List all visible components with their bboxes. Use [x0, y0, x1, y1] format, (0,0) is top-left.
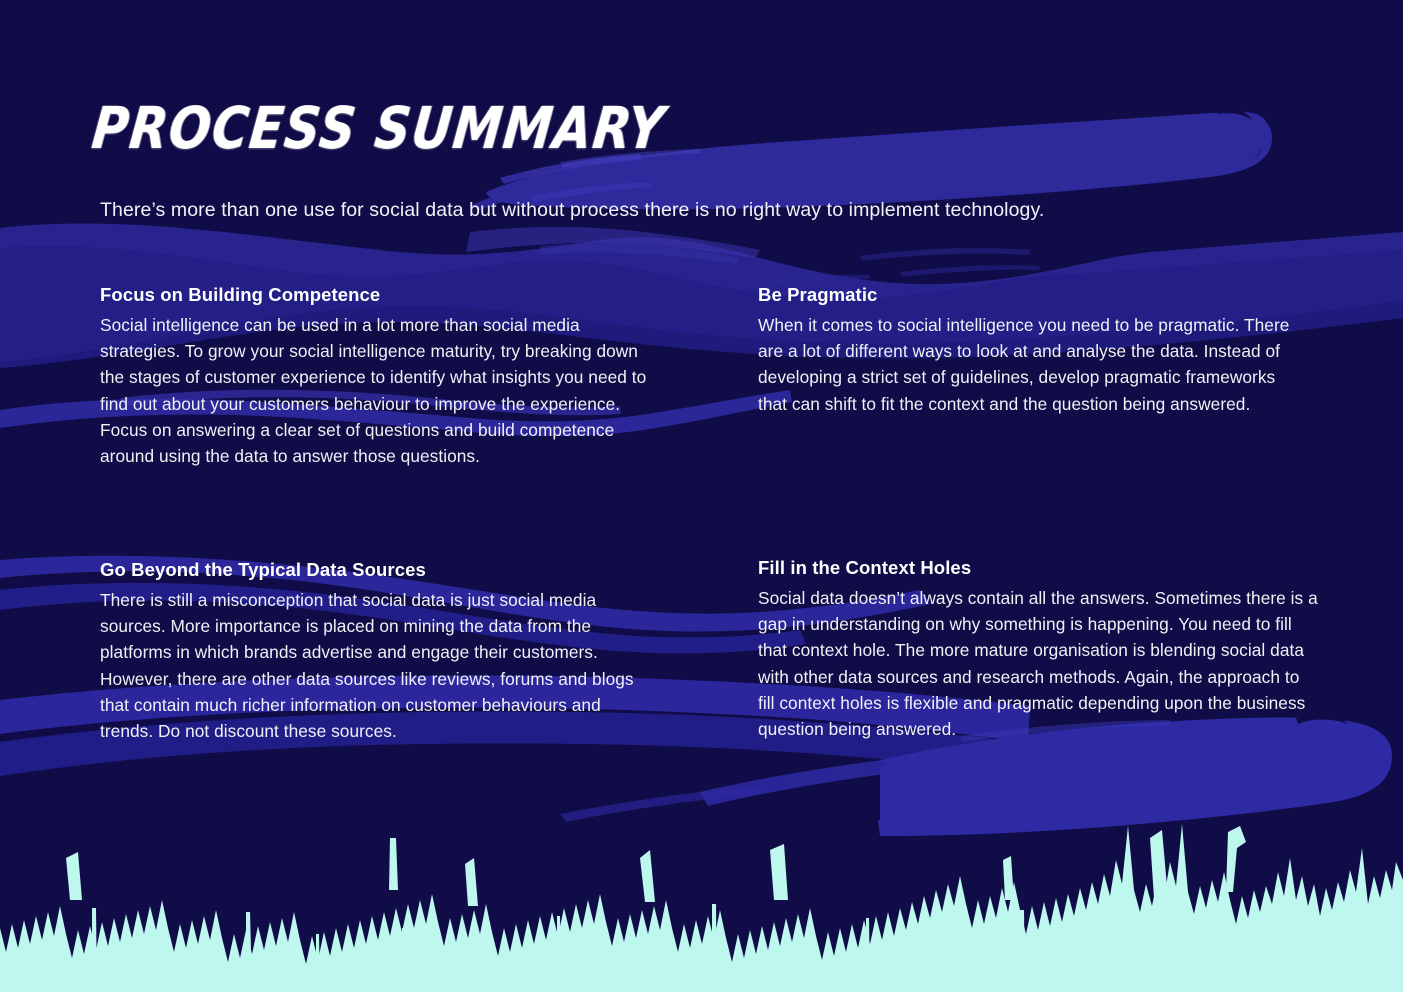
- card-body: Social intelligence can be used in a lot…: [100, 312, 658, 469]
- content-card-focus-on-building-competence: Focus on Building Competence Social inte…: [100, 284, 748, 557]
- card-body: Social data doesn’t always contain all t…: [758, 585, 1318, 742]
- content-card-be-pragmatic: Be Pragmatic When it comes to social int…: [748, 284, 1310, 557]
- card-title: Focus on Building Competence: [100, 284, 748, 306]
- card-body: There is still a misconception that soci…: [100, 587, 656, 744]
- slide-content: PROCESS SUMMARY There’s more than one us…: [0, 0, 1403, 992]
- card-title: Fill in the Context Holes: [758, 557, 1310, 579]
- card-title: Be Pragmatic: [758, 284, 1310, 306]
- slide-subtitle: There’s more than one use for social dat…: [100, 196, 1044, 224]
- slide-canvas: PROCESS SUMMARY There’s more than one us…: [0, 0, 1403, 992]
- content-card-grid: Focus on Building Competence Social inte…: [100, 284, 1310, 744]
- content-card-go-beyond-the-typical-data-sources: Go Beyond the Typical Data Sources There…: [100, 557, 748, 744]
- card-body: When it comes to social intelligence you…: [758, 312, 1303, 417]
- content-card-fill-in-the-context-holes: Fill in the Context Holes Social data do…: [748, 557, 1310, 744]
- card-title: Go Beyond the Typical Data Sources: [100, 559, 748, 581]
- page-title: PROCESS SUMMARY: [89, 95, 668, 162]
